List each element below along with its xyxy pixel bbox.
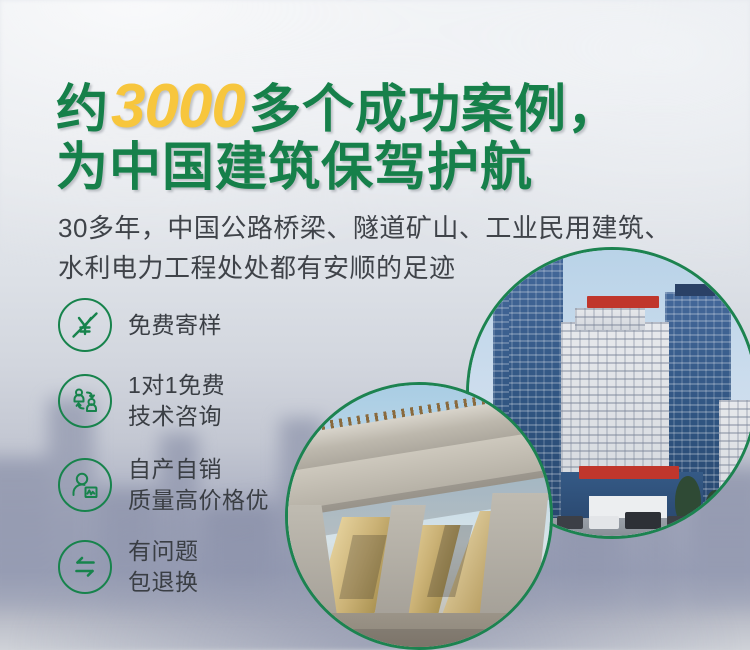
bridge-photo: [285, 382, 553, 650]
feature-line-2: 技术咨询: [128, 403, 222, 429]
headline-prefix: 约: [56, 81, 109, 139]
subtitle-line-1: 30多年，中国公路桥梁、隧道矿山、工业民用建筑、: [58, 208, 708, 248]
headline: 约3000多个成功案例， 为中国建筑保驾护航: [56, 78, 716, 197]
building-roof-sign: [587, 296, 659, 308]
feature-item-return[interactable]: 有问题 包退换: [58, 536, 199, 598]
headline-line-1: 约3000多个成功案例，: [56, 78, 716, 139]
subtitle: 30多年，中国公路桥梁、隧道矿山、工业民用建筑、 水利电力工程处处都有安顺的足迹: [58, 208, 708, 288]
bridge-ground-shadow: [288, 629, 553, 650]
headline-suffix: 多个成功案例，: [249, 81, 620, 139]
headline-line-2: 为中国建筑保驾护航: [56, 139, 716, 197]
feature-line-2: 包退换: [128, 569, 199, 595]
feature-text-quality: 自产自销 质量高价格优: [128, 454, 269, 516]
one-on-one-consult-icon: [58, 374, 112, 428]
feature-item-free-sample[interactable]: 免费寄样: [58, 298, 222, 352]
feature-text-consult: 1对1免费 技术咨询: [128, 370, 225, 432]
feature-item-quality[interactable]: 自产自销 质量高价格优: [58, 454, 269, 516]
building-car-2: [557, 516, 583, 529]
return-exchange-icon: [58, 540, 112, 594]
building-tower-center-crown: [575, 308, 645, 330]
feature-text-free-sample: 免费寄样: [128, 310, 222, 341]
building-car-5: [667, 516, 691, 529]
feature-item-consult[interactable]: 1对1免费 技术咨询: [58, 370, 225, 432]
subtitle-line-2: 水利电力工程处处都有安顺的足迹: [58, 248, 708, 288]
building-car-4: [625, 512, 661, 529]
feature-line-1: 1对1免费: [128, 372, 225, 398]
promo-banner: 约3000多个成功案例， 为中国建筑保驾护航 30多年，中国公路桥梁、隧道矿山、…: [0, 0, 750, 650]
headline-case-count: 3000: [109, 72, 249, 141]
building-podium-sign: [579, 466, 679, 479]
feature-line-2: 质量高价格优: [128, 487, 269, 513]
feature-text-return: 有问题 包退换: [128, 536, 199, 598]
self-produce-quality-icon: [58, 458, 112, 512]
building-car-3: [589, 516, 619, 529]
feature-line-1: 免费寄样: [128, 312, 222, 338]
feature-line-1: 有问题: [128, 538, 199, 564]
free-yuan-icon: [58, 298, 112, 352]
feature-line-1: 自产自销: [128, 456, 222, 482]
